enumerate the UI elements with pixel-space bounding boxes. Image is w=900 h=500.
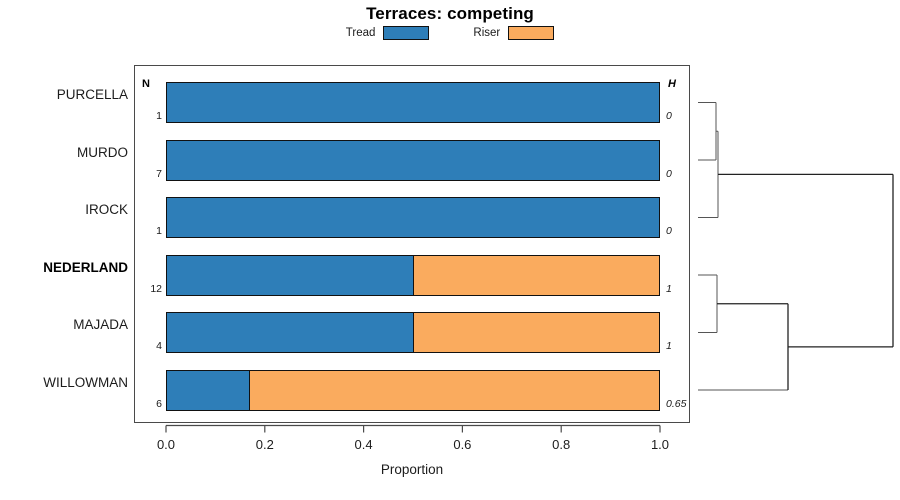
bar-irock[interactable] [166,197,660,238]
n-value-murdo: 7 [136,168,162,180]
n-value-willowman: 6 [136,398,162,410]
row-label-willowman: WILLOWMAN [0,375,128,390]
x-axis-line [0,424,900,444]
bar-segment-tread [167,141,659,180]
n-value-irock: 1 [136,225,162,237]
bar-murdo[interactable] [166,140,660,181]
bar-nederland[interactable] [166,255,660,296]
bar-majada[interactable] [166,312,660,353]
chart-canvas: Terraces: competing Tread Riser N H PURC… [0,0,900,500]
bar-segment-tread [167,83,659,122]
bar-segment-riser [413,256,659,295]
page-title: Terraces: competing [0,4,900,24]
bar-segment-tread [167,256,413,295]
x-axis-title: Proportion [134,462,690,477]
bar-segment-riser [413,313,659,352]
legend-label-tread: Tread [346,27,376,39]
dendrogram [690,65,900,423]
bar-willowman[interactable] [166,370,660,411]
n-value-nederland: 12 [136,283,162,295]
legend-swatch-riser [508,26,554,40]
bar-purcella[interactable] [166,82,660,123]
row-label-majada: MAJADA [0,317,128,332]
legend-swatch-tread [383,26,429,40]
row-label-irock: IROCK [0,202,128,217]
n-value-purcella: 1 [136,110,162,122]
chart-legend: Tread Riser [0,26,900,40]
bar-segment-tread [167,198,659,237]
bar-segment-tread [167,313,413,352]
column-header-n: N [142,78,150,90]
bar-segment-tread [167,371,249,410]
legend-label-riser: Riser [473,27,500,39]
row-label-purcella: PURCELLA [0,87,128,102]
legend-item-riser: Riser [473,26,554,40]
n-value-majada: 4 [136,340,162,352]
column-header-h: H [668,78,676,90]
bar-segment-riser [249,371,659,410]
row-label-murdo: MURDO [0,145,128,160]
legend-item-tread: Tread [346,26,430,40]
row-label-nederland: NEDERLAND [0,260,128,275]
